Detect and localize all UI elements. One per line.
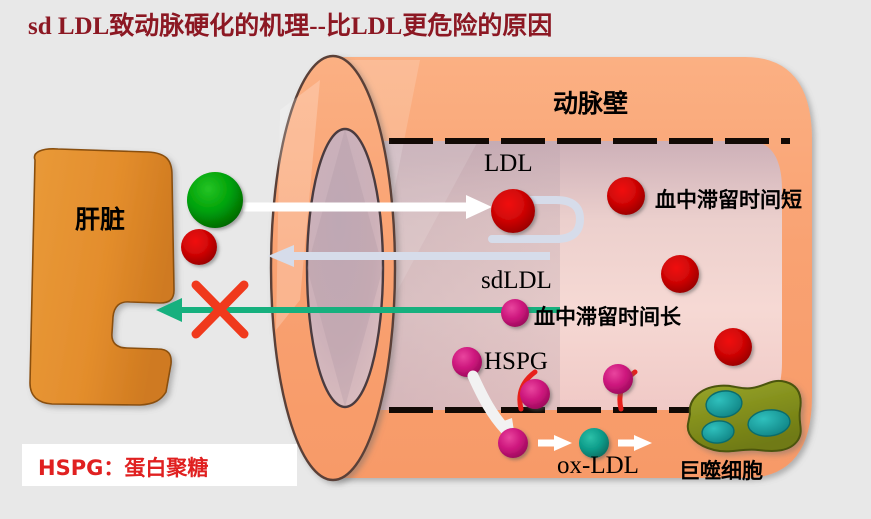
vldl-green-particle (187, 172, 243, 228)
ldl-particle (607, 177, 645, 215)
sdldl-subendothelial-particle (498, 428, 528, 458)
diagram-artwork (0, 0, 871, 519)
label-hspg: HSPG (484, 348, 548, 376)
sdldl-particle-bound (603, 364, 633, 394)
liver-side-particles (181, 172, 243, 265)
sdldl-particle (501, 299, 529, 327)
ldl-red-particle-liver (181, 229, 217, 265)
label-short-residence: 血中滞留时间短 (655, 184, 802, 214)
label-liver: 肝脏 (75, 200, 125, 236)
sdldl-particle-bound (520, 379, 550, 409)
liver-organ (30, 149, 174, 405)
label-ox-ldl: ox-LDL (557, 452, 639, 480)
ldl-particle (491, 189, 535, 233)
ldl-particle (661, 255, 699, 293)
ldl-particle (714, 328, 752, 366)
label-ldl: LDL (484, 150, 533, 178)
page-title: sd LDL致动脉硬化的机理--比LDL更危险的原因 (28, 6, 552, 42)
diagram-canvas: sd LDL致动脉硬化的机理--比LDL更危险的原因 动脉壁 LDL 血中滞留时… (0, 0, 871, 519)
label-macrophage: 巨噬细胞 (679, 455, 763, 485)
label-artery-wall: 动脉壁 (553, 84, 628, 120)
macrophage-cell (688, 381, 801, 452)
label-long-residence: 血中滞留时间长 (534, 301, 681, 331)
sdldl-particle-hspg-label (452, 347, 482, 377)
artery-mouth-annulus (271, 56, 395, 480)
liver-shape (30, 149, 174, 405)
label-sdldl: sdLDL (481, 267, 552, 295)
legend-text: HSPG：蛋白聚糖 (38, 452, 208, 482)
